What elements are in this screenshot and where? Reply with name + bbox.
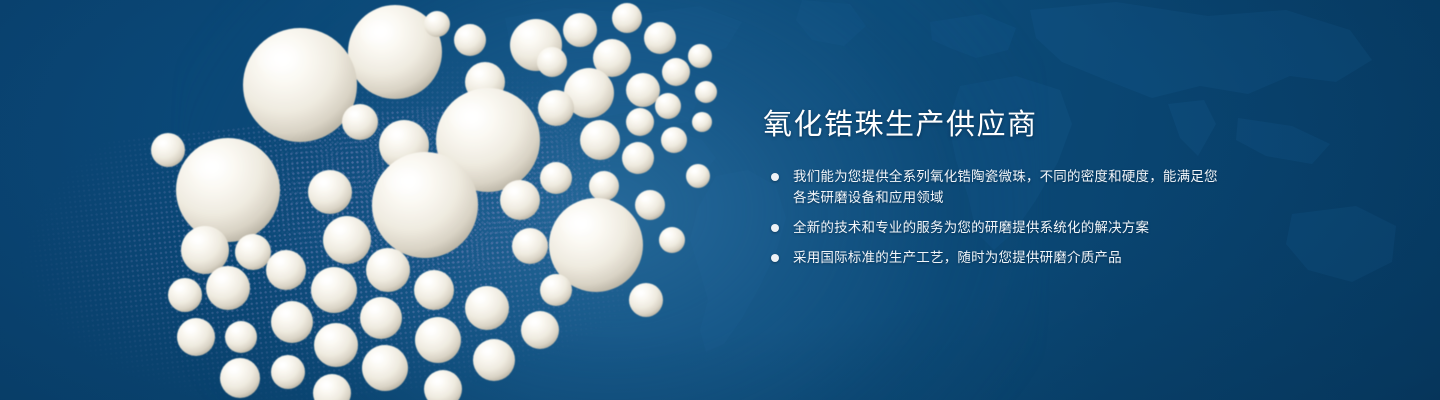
zirconia-beads-image (0, 0, 760, 400)
bullet-dot-icon (771, 254, 779, 262)
feature-list: 我们能为您提供全系列氧化锆陶瓷微珠，不同的密度和硬度，能满足您各类研磨设备和应用… (763, 166, 1223, 268)
list-item-text: 采用国际标准的生产工艺，随时为您提供研磨介质产品 (793, 250, 1122, 265)
list-item: 采用国际标准的生产工艺，随时为您提供研磨介质产品 (763, 247, 1223, 268)
bullet-dot-icon (771, 224, 779, 232)
banner-copy: 氧化锆珠生产供应商 我们能为您提供全系列氧化锆陶瓷微珠，不同的密度和硬度，能满足… (763, 106, 1223, 268)
list-item: 全新的技术和专业的服务为您的研磨提供系统化的解决方案 (763, 217, 1223, 238)
list-item-text: 全新的技术和专业的服务为您的研磨提供系统化的解决方案 (793, 220, 1149, 235)
hero-banner: 氧化锆珠生产供应商 我们能为您提供全系列氧化锆陶瓷微珠，不同的密度和硬度，能满足… (0, 0, 1440, 400)
list-item: 我们能为您提供全系列氧化锆陶瓷微珠，不同的密度和硬度，能满足您各类研磨设备和应用… (763, 166, 1223, 208)
list-item-text: 我们能为您提供全系列氧化锆陶瓷微珠，不同的密度和硬度，能满足您各类研磨设备和应用… (793, 169, 1218, 205)
page-title: 氧化锆珠生产供应商 (763, 106, 1223, 144)
bullet-dot-icon (771, 173, 779, 181)
